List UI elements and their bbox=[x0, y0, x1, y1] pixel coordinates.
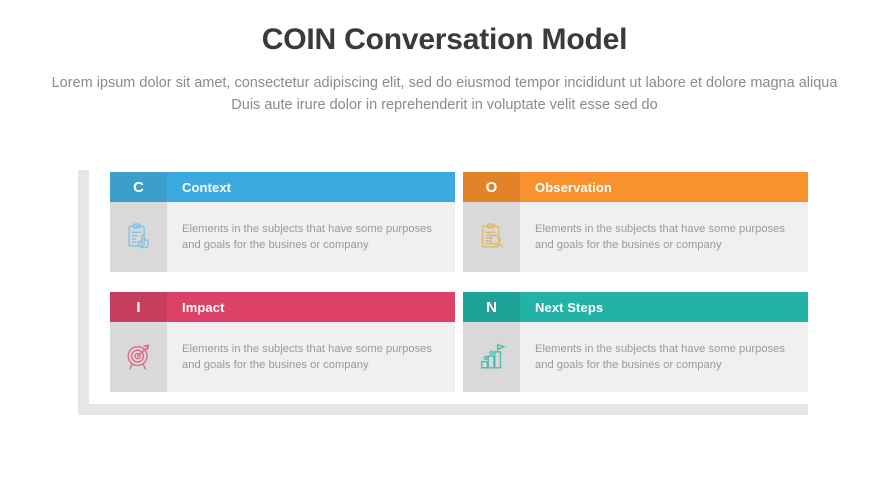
card-title-wrap-observation: Observation bbox=[520, 172, 808, 202]
card-description-observation: Elements in the subjects that have some … bbox=[535, 221, 794, 253]
card-description-context: Elements in the subjects that have some … bbox=[182, 221, 441, 253]
card-title-next-steps: Next Steps bbox=[535, 300, 603, 315]
card-title-wrap-next-steps: Next Steps bbox=[520, 292, 808, 322]
card-next-steps[interactable]: N Next Steps bbox=[463, 292, 808, 392]
card-context[interactable]: C Context bbox=[110, 172, 455, 272]
card-observation[interactable]: O Observation bbox=[463, 172, 808, 272]
page-subtitle: Lorem ipsum dolor sit amet, consectetur … bbox=[45, 72, 845, 117]
card-icon-cell-observation bbox=[463, 202, 520, 272]
card-title-impact: Impact bbox=[182, 300, 225, 315]
card-icon-cell-next-steps bbox=[463, 322, 520, 392]
card-description-next-steps: Elements in the subjects that have some … bbox=[535, 341, 794, 373]
card-letter-next-steps: N bbox=[486, 299, 497, 316]
card-header-observation: O Observation bbox=[463, 172, 808, 202]
card-title-observation: Observation bbox=[535, 180, 612, 195]
card-body-observation: Elements in the subjects that have some … bbox=[463, 202, 808, 272]
card-badge-context: C bbox=[110, 172, 167, 202]
frame-bottom-bar bbox=[78, 404, 808, 415]
card-body-next-steps: Elements in the subjects that have some … bbox=[463, 322, 808, 392]
card-letter-observation: O bbox=[486, 179, 498, 196]
page-title: COIN Conversation Model bbox=[0, 22, 889, 58]
card-icon-cell-impact bbox=[110, 322, 167, 392]
card-impact[interactable]: I Impact bbox=[110, 292, 455, 392]
card-letter-context: C bbox=[133, 179, 144, 196]
card-letter-impact: I bbox=[136, 299, 140, 316]
card-header-context: C Context bbox=[110, 172, 455, 202]
card-title-context: Context bbox=[182, 180, 231, 195]
card-header-next-steps: N Next Steps bbox=[463, 292, 808, 322]
card-text-cell-context: Elements in the subjects that have some … bbox=[167, 202, 455, 272]
bar-chart-flag-icon bbox=[477, 342, 507, 372]
card-body-context: Elements in the subjects that have some … bbox=[110, 202, 455, 272]
page-header: COIN Conversation Model Lorem ipsum dolo… bbox=[0, 0, 889, 117]
card-title-wrap-context: Context bbox=[167, 172, 455, 202]
card-description-impact: Elements in the subjects that have some … bbox=[182, 341, 441, 373]
card-icon-cell-context bbox=[110, 202, 167, 272]
card-badge-observation: O bbox=[463, 172, 520, 202]
card-badge-next-steps: N bbox=[463, 292, 520, 322]
card-title-wrap-impact: Impact bbox=[167, 292, 455, 322]
card-body-impact: Elements in the subjects that have some … bbox=[110, 322, 455, 392]
clipboard-search-icon bbox=[477, 222, 507, 252]
card-header-impact: I Impact bbox=[110, 292, 455, 322]
coin-card-grid: C Context bbox=[110, 172, 808, 392]
target-arrow-icon bbox=[124, 342, 154, 372]
card-text-cell-observation: Elements in the subjects that have some … bbox=[520, 202, 808, 272]
card-badge-impact: I bbox=[110, 292, 167, 322]
card-text-cell-next-steps: Elements in the subjects that have some … bbox=[520, 322, 808, 392]
card-text-cell-impact: Elements in the subjects that have some … bbox=[167, 322, 455, 392]
clipboard-hand-icon bbox=[124, 222, 154, 252]
frame-left-bar bbox=[78, 170, 89, 415]
